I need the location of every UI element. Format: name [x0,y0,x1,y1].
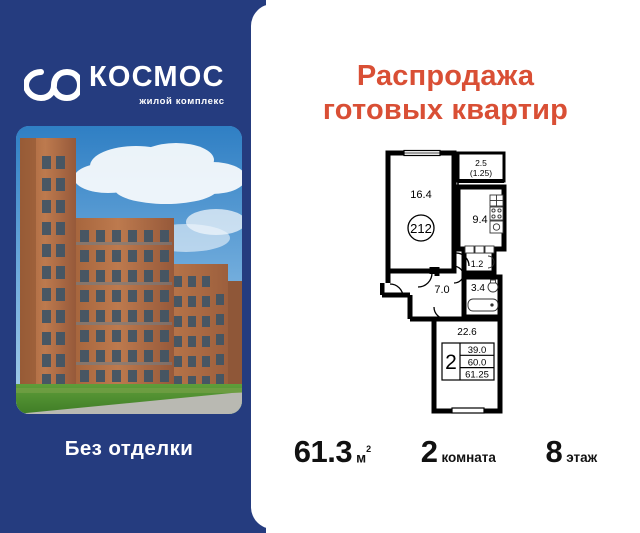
room-area-kitchen: 9.4 [472,214,487,226]
stat-floor-unit: этаж [566,450,597,465]
balcony-area: 2.5 [475,158,487,168]
stat-area-value: 61.3 [294,434,352,470]
room-area-hallway: 7.0 [434,284,449,296]
promo-headline-line1: Распродажа [251,60,640,94]
stat-floor-value: 8 [545,434,562,470]
stat-rooms: 2 комната [421,434,496,470]
listing-card: Распродажа готовых квартир [251,4,640,529]
brand-tagline: жилой комплекс [89,97,225,107]
balcony-counted-area: (1.25) [470,168,492,178]
infinity-icon [24,68,80,102]
summary-rooms-count: 2 [445,351,457,374]
summary-living-area: 39.0 [468,345,487,356]
summary-total-area: 60.0 [468,357,487,368]
floor-plan: 16.4 9.4 7.0 1.2 3.4 22.6 2.5 (1.25) 212 [380,143,526,418]
residential-building-photo [16,126,242,414]
brand-logo: КОСМОС жилой комплекс [24,57,242,113]
stat-area: 61.3 м2 [294,434,371,470]
stat-rooms-value: 2 [421,434,438,470]
apartment-stats: 61.3 м2 2 комната 8 этаж [251,434,640,480]
room-area-living: 16.4 [410,189,431,201]
brand-panel: КОСМОС жилой комплекс [0,0,266,533]
promo-headline-line2: готовых квартир [251,94,640,128]
stat-rooms-unit: комната [441,450,495,465]
room-area-bathroom: 3.4 [471,283,485,294]
promo-headline: Распродажа готовых квартир [251,60,640,127]
room-area-second: 22.6 [457,327,477,338]
summary-total-with-balcony: 61.25 [465,370,489,381]
photo-caption: Без отделки [0,437,258,461]
stat-area-unit: м2 [356,449,371,466]
room-area-wc: 1.2 [471,259,484,269]
brand-name: КОСМОС [89,63,225,92]
stat-floor: 8 этаж [545,434,597,470]
apartment-number: 212 [410,221,432,236]
advertisement-banner: КОСМОС жилой комплекс [0,0,640,533]
